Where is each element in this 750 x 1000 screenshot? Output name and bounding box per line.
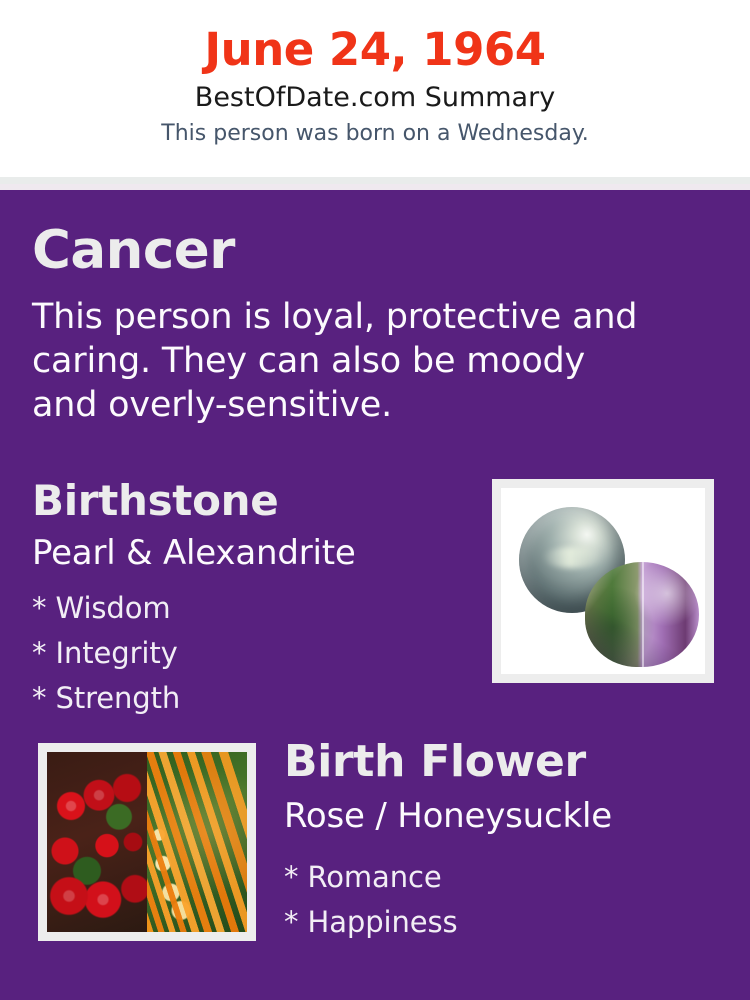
birthstone-image — [501, 488, 705, 674]
birth-flower-image — [47, 752, 247, 932]
zodiac-sign-title: Cancer — [32, 222, 235, 279]
birthstone-traits-list: * Wisdom * Integrity * Strength — [32, 586, 180, 721]
birth-flower-image-frame — [38, 743, 256, 941]
birthstone-names: Pearl & Alexandrite — [32, 534, 356, 573]
summary-card: June 24, 1964 BestOfDate.com Summary Thi… — [0, 0, 750, 1000]
born-day-text: This person was born on a Wednesday. — [0, 121, 750, 147]
list-item: * Wisdom — [32, 586, 180, 631]
header-divider-top — [0, 177, 750, 184]
birthstone-title: Birthstone — [32, 478, 278, 524]
card-header: June 24, 1964 BestOfDate.com Summary Thi… — [0, 0, 750, 177]
site-summary-label: BestOfDate.com Summary — [0, 82, 750, 114]
alexandrite-gem-icon — [585, 562, 699, 666]
honeysuckle-flower-icon — [147, 752, 247, 932]
rose-flower-icon — [47, 752, 147, 932]
list-item: * Happiness — [284, 900, 458, 945]
birth-flower-title: Birth Flower — [284, 738, 586, 786]
list-item: * Romance — [284, 855, 458, 900]
list-item: * Strength — [32, 676, 180, 721]
birth-flower-traits-list: * Romance * Happiness — [284, 855, 458, 945]
birthstone-image-frame — [492, 479, 714, 683]
zodiac-description: This person is loyal, protective and car… — [32, 295, 652, 427]
list-item: * Integrity — [32, 631, 180, 676]
page-title-date: June 24, 1964 — [0, 24, 750, 76]
birth-flower-names: Rose / Honeysuckle — [284, 797, 612, 836]
